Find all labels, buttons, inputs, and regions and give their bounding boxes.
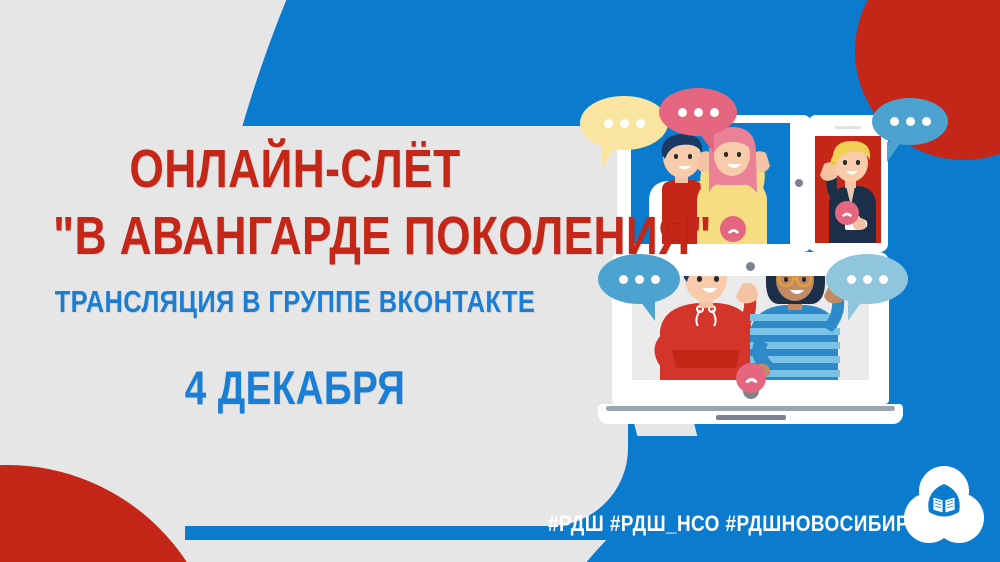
headline-block: ОНЛАЙН-СЛЁТ "В АВАНГАРДЕ ПОКОЛЕНИЯ" ТРАН… [0, 140, 590, 414]
bubble-yellow-icon [580, 96, 668, 150]
subtitle-text: ТРАНСЛЯЦИЯ В ГРУППЕ ВКОНТАКТЕ [53, 284, 537, 320]
laptop-base-ridge [606, 406, 895, 411]
tablet-right-screen [815, 136, 881, 243]
tablet-right-device [808, 115, 888, 252]
headline-line-1: ОНЛАЙН-СЛЁТ [53, 140, 537, 198]
bubble-blue-bottom-right-icon [826, 254, 908, 304]
end-call-button-laptop[interactable] [736, 363, 766, 393]
end-call-button-tablet-right[interactable] [835, 201, 859, 225]
tablet-left-camera-icon [795, 179, 803, 187]
bubble-pink-icon [659, 88, 737, 136]
hashtags-text: #РДШ #РДШ_НСО #РДШНОВОСИБИРСК [548, 511, 840, 537]
tablet-right-speaker-icon [835, 126, 861, 129]
headline-line-2: "В АВАНГАРДЕ ПОКОЛЕНИЯ" [53, 204, 537, 268]
rdsh-logo [898, 462, 990, 554]
logo-pinwheel-icon [904, 466, 984, 543]
laptop-camera-icon [746, 262, 755, 271]
end-call-button-tablet-left[interactable] [720, 216, 746, 242]
event-date-text: 4 ДЕКАБРЯ [53, 362, 537, 414]
laptop-trackpad [716, 415, 786, 420]
tablet-right-people [815, 136, 881, 243]
poster-canvas: ОНЛАЙН-СЛЁТ "В АВАНГАРДЕ ПОКОЛЕНИЯ" ТРАН… [0, 0, 1000, 562]
bubble-blue-top-right-icon [872, 98, 948, 145]
laptop-base [598, 404, 903, 424]
person-blond-right [820, 141, 876, 243]
